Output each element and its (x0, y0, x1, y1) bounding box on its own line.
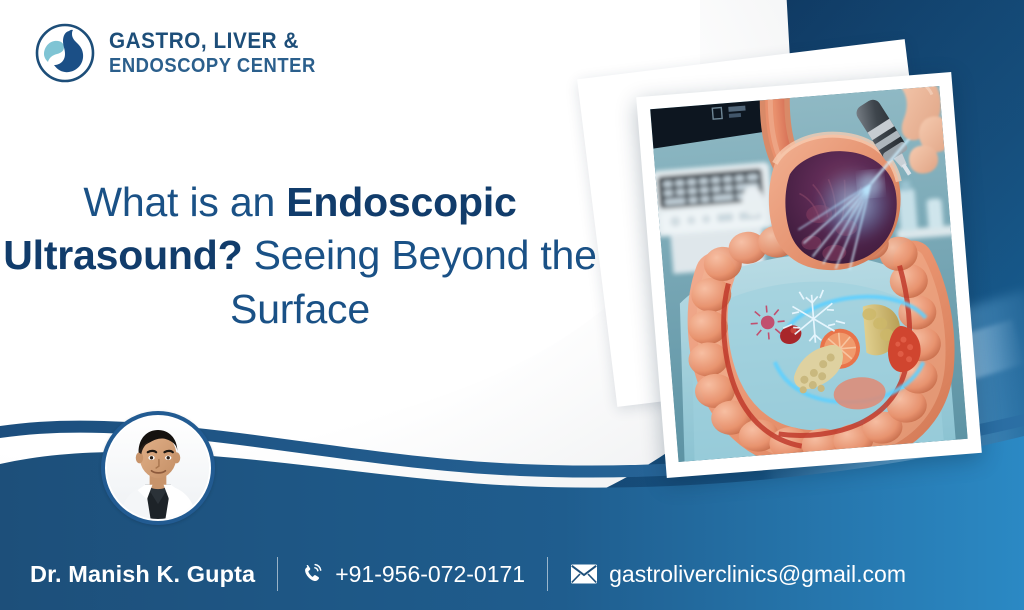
email-contact[interactable]: gastroliverclinics@gmail.com (570, 561, 906, 588)
phone-icon (300, 562, 324, 586)
stomach-liver-circle-logo-icon (34, 22, 96, 84)
email-address: gastroliverclinics@gmail.com (609, 561, 906, 588)
brand-name-line2: ENDOSCOPY CENTER (109, 56, 316, 76)
brand-wordmark: GASTRO, LIVER & ENDOSCOPY CENTER (109, 30, 334, 76)
divider (547, 557, 548, 591)
divider (277, 557, 278, 591)
phone-number: +91-956-072-0171 (335, 561, 525, 588)
envelope-icon (570, 563, 598, 585)
brand-name-line1: GASTRO, LIVER & (109, 30, 316, 53)
page-title: What is an Endoscopic Ultrasound? Seeing… (0, 176, 600, 336)
doctor-portrait-icon (107, 417, 209, 519)
avatar (101, 411, 215, 525)
doctor-name: Dr. Manish K. Gupta (30, 561, 255, 588)
banner-canvas: GASTRO, LIVER & ENDOSCOPY CENTER What is… (0, 0, 1024, 610)
headline-regular-1: What is an (83, 179, 286, 225)
endoscopic-ultrasound-illustration (650, 86, 967, 462)
illustration-card[interactable] (636, 72, 982, 478)
brand-logo[interactable]: GASTRO, LIVER & ENDOSCOPY CENTER (34, 22, 334, 84)
headline-regular-2: Seeing Beyond the Surface (230, 232, 597, 331)
contact-bar: Dr. Manish K. Gupta +91-956-072-0171 (0, 538, 1024, 610)
phone-contact[interactable]: +91-956-072-0171 (300, 561, 525, 588)
